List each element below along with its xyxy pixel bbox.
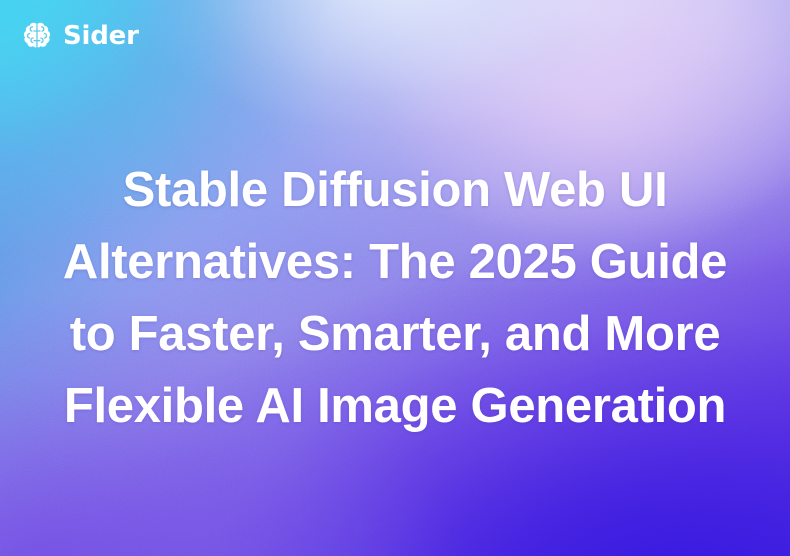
page-title: Stable Diffusion Web UI Alternatives: Th… <box>0 154 790 442</box>
logo-wordmark: Sider <box>63 23 139 49</box>
brand-logo[interactable]: Sider <box>20 19 139 53</box>
headline-line-3: to Faster, Smarter, and More <box>36 298 754 370</box>
hero-banner: Sider Stable Diffusion Web UI Alternativ… <box>0 0 790 556</box>
brain-icon <box>20 19 54 53</box>
headline-line-4: Flexible AI Image Generation <box>36 370 754 442</box>
headline-line-1: Stable Diffusion Web UI <box>36 154 754 226</box>
headline-line-2: Alternatives: The 2025 Guide <box>36 226 754 298</box>
